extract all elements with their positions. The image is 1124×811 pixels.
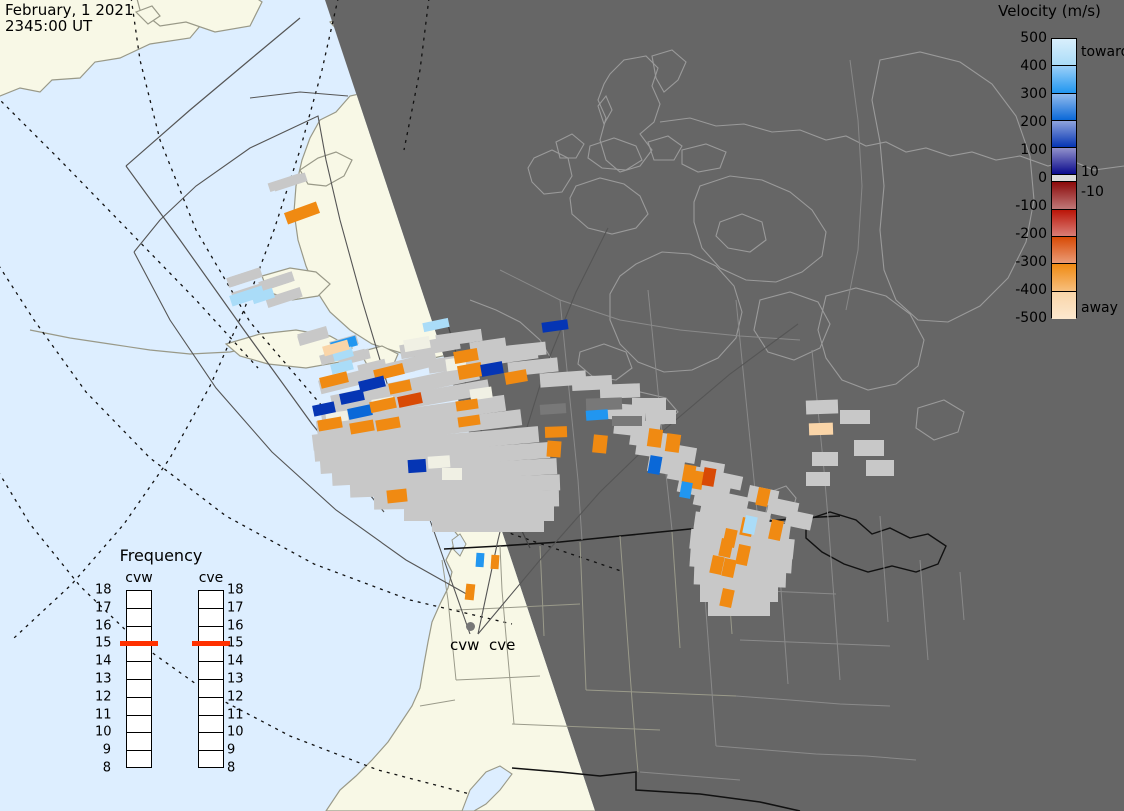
colorbar-side-labels: toward10-10away — [1081, 0, 1124, 340]
frequency-tick-12: 12 — [95, 689, 111, 704]
timestamp: February, 1 2021 2345:00 UT — [5, 2, 134, 34]
timestamp-date: February, 1 2021 — [5, 2, 134, 18]
frequency-tick-12: 12 — [227, 689, 243, 704]
frequency-tick-17: 17 — [95, 600, 111, 615]
velocity-cell — [491, 555, 500, 570]
radar-site-label-cvw: cvw — [450, 636, 479, 654]
frequency-cell — [199, 733, 223, 751]
frequency-tick-9: 9 — [227, 743, 243, 758]
colorbar-tick-400: 400 — [975, 58, 1047, 74]
colorbar-tick--500: -500 — [975, 310, 1047, 326]
frequency-tick-11: 11 — [95, 707, 111, 722]
colorbar-tick-200: 200 — [975, 114, 1047, 130]
frequency-title: Frequency — [85, 546, 237, 565]
velocity-cell — [809, 423, 833, 436]
frequency-tick-11: 11 — [227, 707, 243, 722]
velocity-cell — [665, 433, 681, 453]
frequency-cell — [199, 644, 223, 662]
frequency-bar-cvw — [126, 590, 152, 768]
colorbar-segment-away-4 — [1052, 292, 1076, 319]
velocity-cell — [386, 488, 407, 503]
frequency-tick-10: 10 — [227, 725, 243, 740]
frequency-marker-cve — [192, 641, 230, 646]
radar-map-view: February, 1 2021 2345:00 UT Velocity (m/… — [0, 0, 1124, 811]
frequency-cell — [199, 662, 223, 680]
colorbar-tick-labels: 5004003002001000-100-200-300-400-500 — [975, 0, 1047, 340]
colorbar-tick--300: -300 — [975, 254, 1047, 270]
velocity-cell — [465, 584, 476, 601]
colorbar-segment-away-3 — [1052, 264, 1076, 291]
frequency-tick-15: 15 — [227, 636, 243, 651]
colorbar-segment-toward-0 — [1052, 39, 1076, 66]
frequency-tick-14: 14 — [227, 654, 243, 669]
velocity-cell — [546, 441, 561, 458]
frequency-cell — [199, 698, 223, 716]
frequency-scale-cvw: 18171615141312111098 — [95, 590, 111, 768]
colorbar-segment-away-1 — [1052, 210, 1076, 237]
velocity-cell — [586, 409, 609, 421]
colorbar-tick-100: 100 — [975, 142, 1047, 158]
frequency-tick-17: 17 — [227, 600, 243, 615]
colorbar-label-negative-threshold: -10 — [1081, 184, 1104, 200]
frequency-bar-cve — [198, 590, 224, 768]
colorbar-tick-500: 500 — [975, 30, 1047, 46]
colorbar-gradient — [1051, 38, 1077, 318]
colorbar-tick-300: 300 — [975, 86, 1047, 102]
colorbar-tick--100: -100 — [975, 198, 1047, 214]
frequency-tick-16: 16 — [227, 618, 243, 633]
frequency-cell — [127, 662, 151, 680]
colorbar-tick-0: 0 — [975, 170, 1047, 186]
velocity-cell — [647, 428, 663, 448]
radar-site-marker — [466, 622, 475, 631]
colorbar-label-toward: toward — [1081, 44, 1124, 60]
frequency-tick-9: 9 — [95, 743, 111, 758]
frequency-tick-15: 15 — [95, 636, 111, 651]
colorbar-label-positive-threshold: 10 — [1081, 164, 1099, 180]
colorbar-segment-away-2 — [1052, 237, 1076, 264]
colorbar-segment-toward-3 — [1052, 121, 1076, 148]
frequency-legend: Frequency cvw18171615141312111098cve1817… — [85, 546, 237, 786]
colorbar-tick--400: -400 — [975, 282, 1047, 298]
frequency-cell — [127, 644, 151, 662]
frequency-cell — [127, 716, 151, 734]
frequency-tick-16: 16 — [95, 618, 111, 633]
frequency-tick-8: 8 — [95, 761, 111, 776]
frequency-cell — [127, 751, 151, 769]
velocity-cell — [476, 553, 485, 568]
velocity-cell — [408, 459, 427, 473]
frequency-marker-cvw — [120, 641, 158, 646]
frequency-cell — [127, 698, 151, 716]
frequency-cell — [199, 609, 223, 627]
frequency-tick-18: 18 — [227, 583, 243, 598]
radar-site-label-cve: cve — [489, 636, 515, 654]
frequency-cell — [127, 609, 151, 627]
frequency-cell — [127, 680, 151, 698]
frequency-column-cvw: cvw18171615141312111098 — [113, 570, 165, 786]
colorbar-segment-zero — [1052, 175, 1076, 182]
frequency-scale-cve: 18171615141312111098 — [227, 590, 243, 768]
frequency-cell — [127, 591, 151, 609]
frequency-tick-14: 14 — [95, 654, 111, 669]
frequency-cell — [199, 716, 223, 734]
velocity-cell — [592, 434, 608, 453]
frequency-tick-10: 10 — [95, 725, 111, 740]
frequency-tick-13: 13 — [227, 672, 243, 687]
colorbar-segment-away-0 — [1052, 182, 1076, 209]
colorbar-segment-toward-2 — [1052, 94, 1076, 121]
colorbar-segment-toward-1 — [1052, 66, 1076, 93]
frequency-cell — [199, 680, 223, 698]
frequency-column-cve: cve18171615141312111098 — [185, 570, 237, 786]
frequency-cell — [127, 733, 151, 751]
colorbar-segment-toward-4 — [1052, 148, 1076, 175]
colorbar-tick--200: -200 — [975, 226, 1047, 242]
frequency-cell — [199, 751, 223, 769]
frequency-column-label-cvw: cvw — [113, 570, 165, 586]
frequency-tick-13: 13 — [95, 672, 111, 687]
velocity-colorbar: Velocity (m/s) 5004003002001000-100-200-… — [975, 0, 1124, 340]
velocity-cell — [545, 426, 567, 438]
frequency-tick-8: 8 — [227, 761, 243, 776]
frequency-tick-18: 18 — [95, 583, 111, 598]
timestamp-time: 2345:00 UT — [5, 18, 134, 34]
frequency-cell — [199, 591, 223, 609]
colorbar-label-away: away — [1081, 300, 1118, 316]
